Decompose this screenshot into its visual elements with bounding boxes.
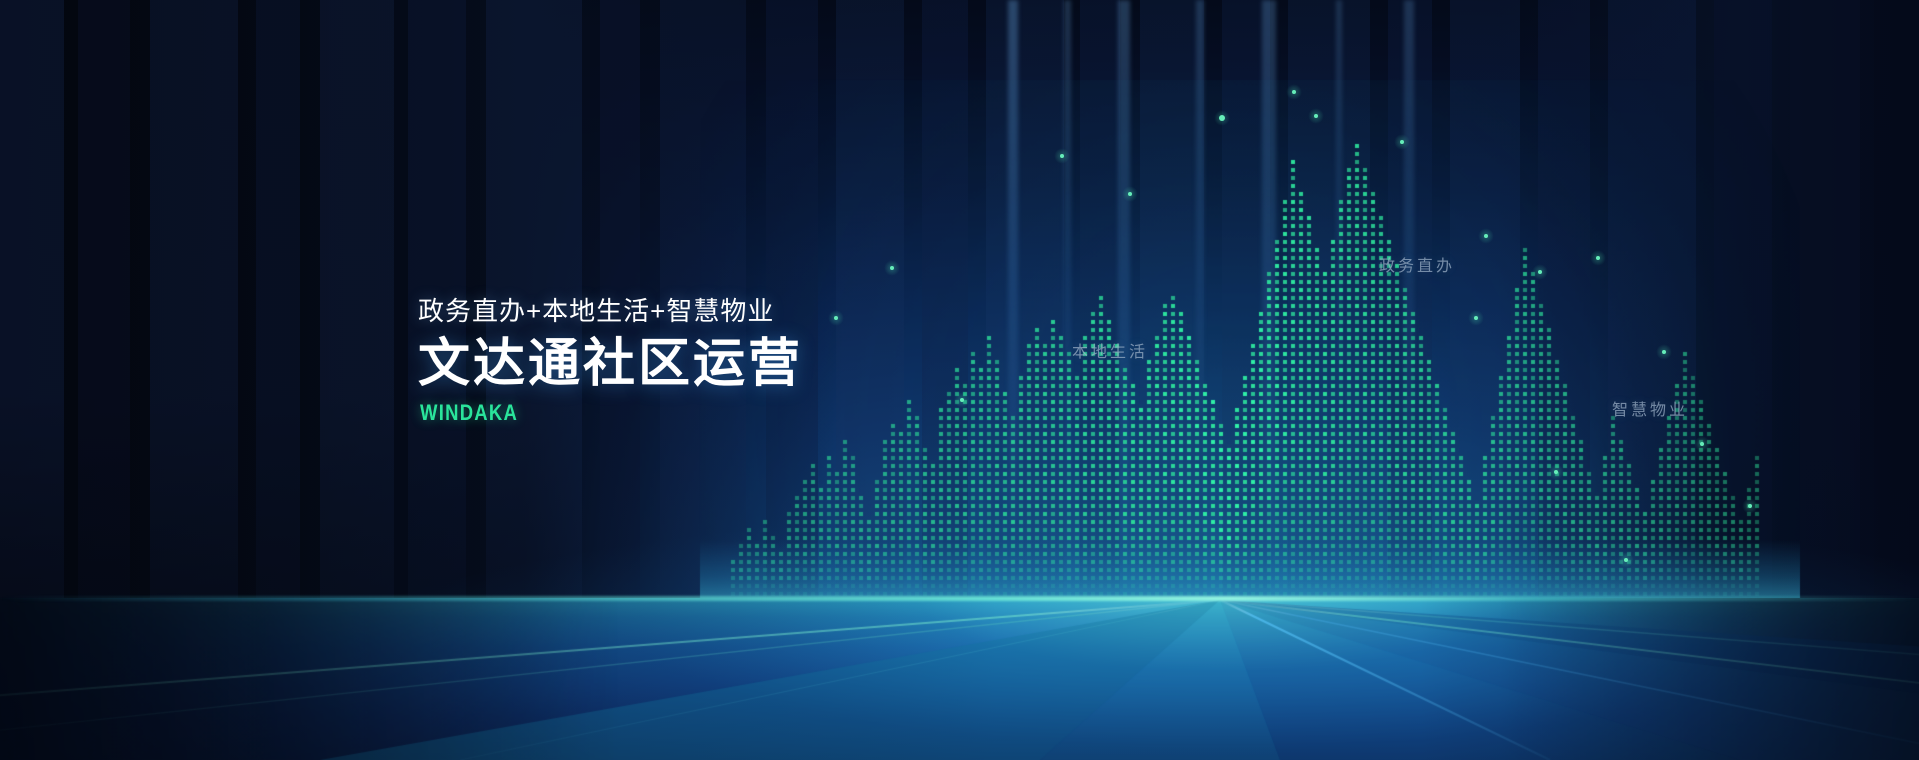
tag-smart-estate: 智慧物业 (1612, 396, 1688, 420)
banner-headline: 文达通社区运营 (418, 335, 803, 393)
headline-block: 政务直办+本地生活+智慧物业 文达通社区运营 WINDAKA (418, 296, 803, 426)
hero-banner: 政务直办+本地生活+智慧物业 文达通社区运营 WINDAKA 本地生活政务直办智… (0, 0, 1919, 760)
light-shaft (1118, 0, 1130, 600)
light-shaft (1262, 0, 1276, 590)
ground-right-shade (1420, 598, 1919, 760)
light-shaft (1196, 0, 1204, 470)
brand-wordmark: WINDAKA (420, 400, 742, 426)
light-shaft (1336, 0, 1342, 440)
perspective-ground (0, 598, 1919, 760)
horizon-line (0, 596, 1919, 601)
light-shaft (1008, 0, 1018, 560)
light-shaft (1064, 0, 1071, 520)
tag-local-life: 本地生活 (1072, 338, 1148, 362)
tag-gov-affairs: 政务直办 (1379, 252, 1455, 276)
banner-subtitle: 政务直办+本地生活+智慧物业 (418, 296, 803, 327)
ground-left-shade (0, 598, 998, 760)
